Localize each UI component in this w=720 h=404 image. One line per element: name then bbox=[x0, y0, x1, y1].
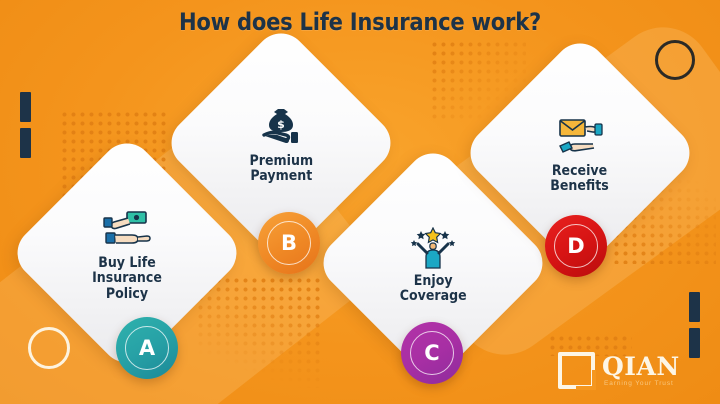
brand-tagline: Earning Your Trust bbox=[604, 381, 680, 388]
badge-letter: D bbox=[567, 236, 584, 257]
badge-ring: B bbox=[267, 221, 311, 265]
brand-logo[interactable]: QIAN Earning Your Trust bbox=[558, 352, 680, 389]
infographic-canvas: How does Life Insurance work? Buy Life I… bbox=[0, 0, 720, 404]
square-bracket-logo-icon bbox=[558, 352, 595, 389]
step-badge-a[interactable]: A bbox=[116, 317, 178, 379]
step-card-d[interactable]: Receive Benefits bbox=[495, 68, 665, 238]
step-badge-b[interactable]: B bbox=[258, 212, 320, 274]
accent-tick-right bbox=[689, 328, 700, 358]
dot-pattern bbox=[196, 276, 324, 388]
brand-name: QIAN bbox=[602, 354, 680, 379]
badge-ring: D bbox=[554, 224, 598, 268]
accent-tick-left bbox=[20, 128, 31, 158]
badge-letter: C bbox=[424, 343, 439, 364]
badge-ring: C bbox=[410, 331, 454, 375]
accent-tick-right bbox=[689, 292, 700, 322]
badge-letter: B bbox=[281, 233, 297, 254]
step-badge-c[interactable]: C bbox=[401, 322, 463, 384]
page-title: How does Life Insurance work? bbox=[43, 8, 677, 36]
badge-ring: A bbox=[125, 326, 169, 370]
accent-tick-left bbox=[20, 92, 31, 122]
step-badge-d[interactable]: D bbox=[545, 215, 607, 277]
badge-letter: A bbox=[139, 338, 155, 359]
step-card-a[interactable]: Buy Life Insurance Policy bbox=[42, 168, 212, 338]
step-card-b[interactable]: $ Premium Payment bbox=[196, 58, 366, 228]
